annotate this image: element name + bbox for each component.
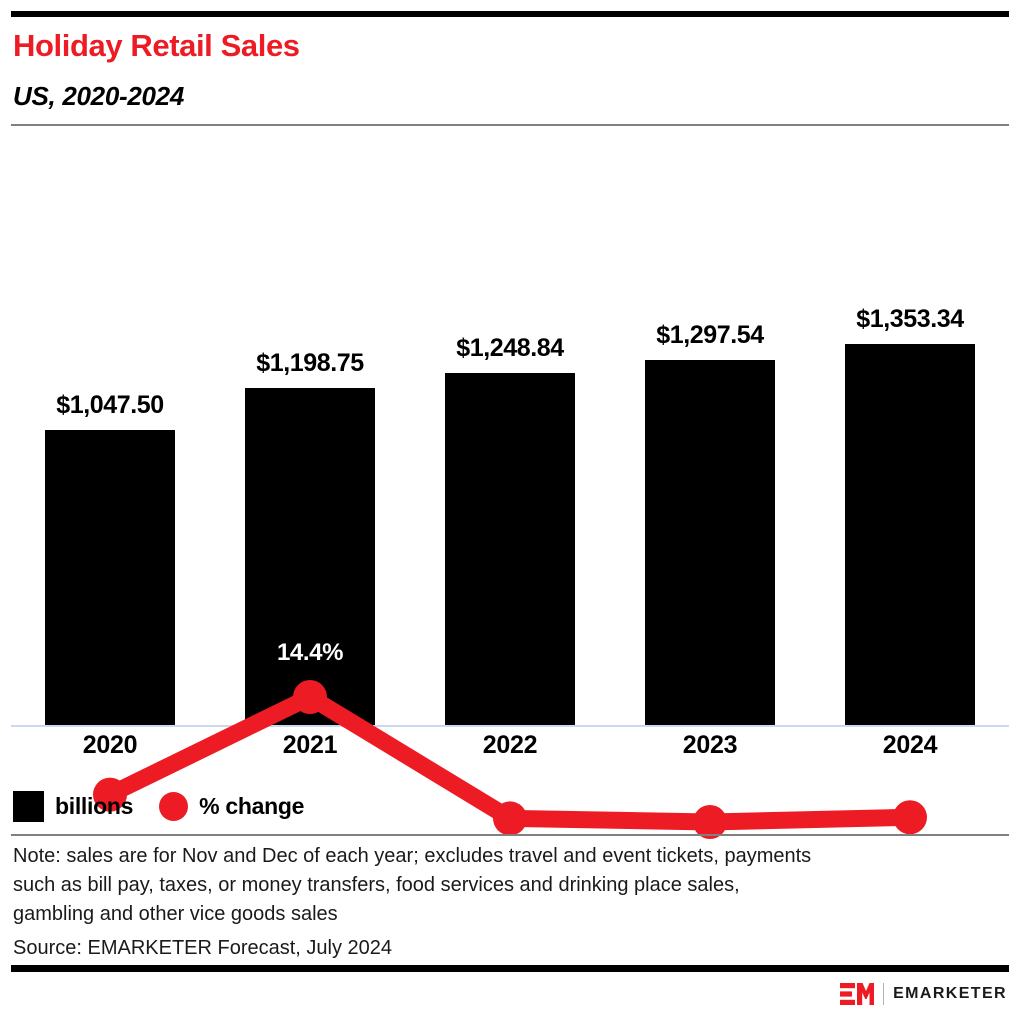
em-logo-icon — [840, 982, 874, 1006]
pct-label-2021: 14.4% — [210, 639, 410, 667]
marker-2021 — [293, 680, 327, 714]
legend-label-pct-change: % change — [199, 793, 304, 820]
x-axis-category-labels: 2020 2021 2022 2023 2024 — [0, 731, 1020, 771]
footer-rule — [11, 965, 1009, 972]
brand-divider — [883, 983, 884, 1005]
note-line-1: Note: sales are for Nov and Dec of each … — [13, 842, 993, 871]
x-axis-label-2021: 2021 — [210, 731, 410, 760]
chart-source: Source: EMARKETER Forecast, July 2024 — [13, 934, 392, 962]
legend-item-billions: billions — [13, 791, 133, 822]
marker-2022 — [493, 801, 527, 835]
header-divider — [11, 124, 1009, 126]
top-rule — [11, 11, 1009, 17]
square-swatch-icon — [13, 791, 44, 822]
x-axis-label-2020: 2020 — [10, 731, 210, 760]
marker-2024 — [893, 800, 927, 834]
legend-item-pct-change: % change — [159, 792, 304, 821]
x-axis-label-2024: 2024 — [810, 731, 1010, 760]
page-subtitle: US, 2020-2024 — [13, 80, 913, 112]
legend-label-billions: billions — [55, 793, 133, 820]
note-line-2: such as bill pay, taxes, or money transf… — [13, 871, 993, 900]
circle-swatch-icon — [159, 792, 188, 821]
brand-lockup: EMARKETER — [840, 981, 1007, 1007]
x-axis-label-2022: 2022 — [410, 731, 610, 760]
chart-legend: billions % change — [13, 789, 304, 823]
page-title: Holiday Retail Sales — [13, 27, 913, 65]
infographic-card: Holiday Retail Sales US, 2020-2024 $1,04… — [0, 0, 1020, 1016]
x-axis-label-2023: 2023 — [610, 731, 810, 760]
notes-divider — [11, 834, 1009, 836]
brand-wordmark: EMARKETER — [893, 985, 1007, 1003]
note-line-3: gambling and other vice goods sales — [13, 900, 993, 929]
chart-note: Note: sales are for Nov and Dec of each … — [13, 842, 993, 929]
percent-change-line-series — [0, 140, 1020, 728]
chart-plot-area: $1,047.50 $1,198.75 $1,248.84 $1,297.54 … — [0, 140, 1020, 728]
